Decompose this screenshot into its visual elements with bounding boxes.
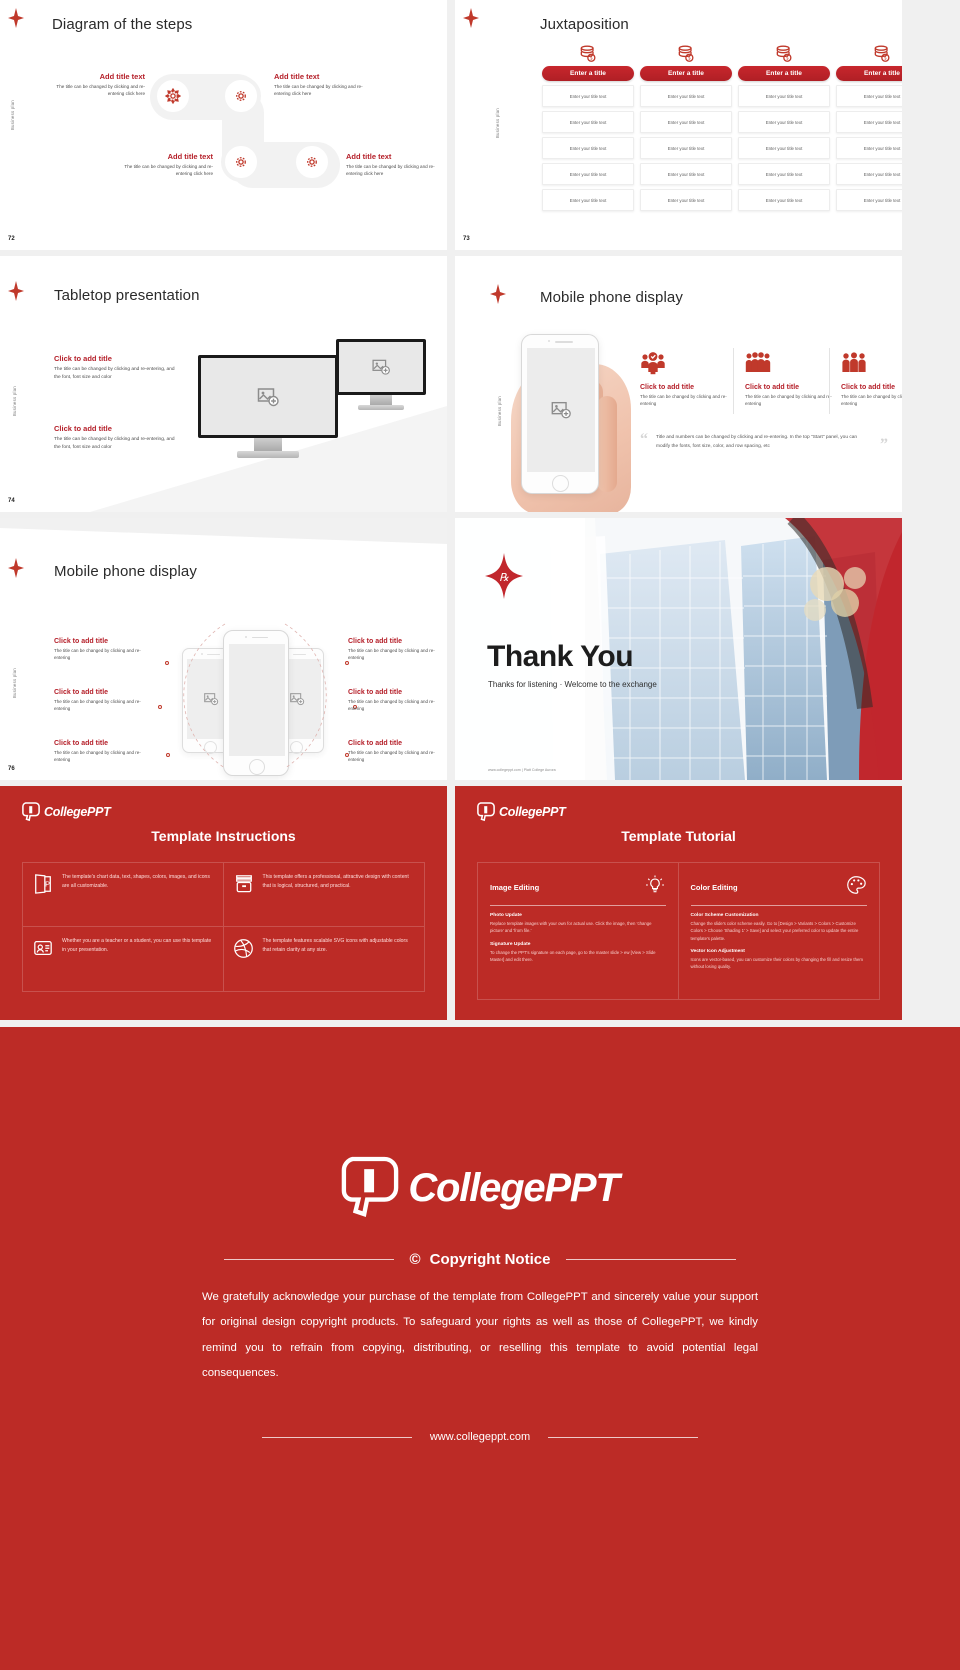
- logo-wordmark: CollegePPT: [408, 1166, 618, 1211]
- column-cell[interactable]: Enter your title text: [738, 137, 830, 159]
- slide-mobile-phone-display-a[interactable]: Business plan Mobile phone display Click…: [455, 256, 902, 512]
- people-group-icon: [745, 351, 835, 380]
- item-heading: Click to add title: [348, 689, 440, 696]
- item-body: The title can be changed by clicking and…: [54, 366, 179, 382]
- collegeppt-logo[interactable]: CollegePPT: [477, 802, 565, 822]
- tabletop-text-2: Click to add title The title can be chan…: [54, 424, 179, 452]
- rule-right: [548, 1437, 698, 1438]
- slide-title: Tabletop presentation: [54, 287, 200, 304]
- step-heading: Add title text: [118, 152, 213, 161]
- left-item-3: Click to add title The title can be chan…: [54, 740, 146, 763]
- svg-text:℞: ℞: [499, 572, 509, 584]
- coin-stack-icon: $: [836, 42, 902, 64]
- tutorial-subheading: Color Scheme Customization: [691, 913, 868, 918]
- column-cell[interactable]: Enter your title text: [738, 85, 830, 107]
- slide-title: Diagram of the steps: [52, 16, 192, 33]
- column-title-button[interactable]: Enter a title: [542, 66, 634, 81]
- presentation-contact-sheet: Business plan Diagram of the steps Add t…: [0, 0, 960, 1670]
- step-circle-2[interactable]: [221, 76, 261, 116]
- item-heading: Click to add title: [348, 638, 440, 645]
- step-text-1: Add title text The title can be changed …: [50, 72, 145, 97]
- feature-body: The title can be changed by clicking and…: [841, 393, 902, 407]
- step-text-4: Add title text The title can be changed …: [346, 152, 441, 177]
- step-body: The title can be changed by clicking and…: [50, 83, 145, 97]
- slide-side-label: Business plan: [12, 668, 17, 698]
- right-item-2: Click to add title The title can be chan…: [348, 689, 440, 712]
- step-text-2: Add title text The title can be changed …: [274, 72, 369, 97]
- item-body: The title can be changed by clicking and…: [54, 749, 146, 763]
- heading-rule: [490, 905, 666, 906]
- step-heading: Add title text: [50, 72, 145, 81]
- tutorial-heading: Image Editing: [490, 883, 539, 892]
- juxtaposition-column: $ Enter a title Enter your title text En…: [836, 42, 902, 211]
- decor-arcs: [140, 618, 370, 773]
- juxtaposition-column: $ Enter a title Enter your title text En…: [542, 42, 634, 211]
- tutorial-grid: Image Editing Photo Update Replace templ…: [477, 862, 880, 1000]
- collegeppt-logo[interactable]: CollegePPT: [22, 802, 110, 822]
- arc-node: [345, 661, 349, 665]
- template-instructions-panel: CollegePPT Template Instructions P The t…: [0, 786, 447, 1020]
- column-cell[interactable]: Enter your title text: [542, 111, 634, 133]
- slide-title: Mobile phone display: [540, 289, 683, 306]
- quote-open-icon: “: [640, 434, 648, 452]
- brand-diamond-icon: [490, 284, 504, 302]
- step-body: The title can be changed by clicking and…: [346, 163, 441, 177]
- copyright-symbol-icon: ©: [410, 1251, 421, 1268]
- thank-you-subtitle: Thanks for listening · Welcome to the ex…: [488, 680, 657, 689]
- item-heading: Click to add title: [54, 354, 179, 363]
- hand-holding-phone-image: [503, 324, 648, 512]
- monitor-secondary[interactable]: [336, 339, 426, 410]
- column-cell[interactable]: Enter your title text: [836, 85, 902, 107]
- brand-diamond-icon: [463, 8, 477, 26]
- monitor-neck: [370, 395, 392, 405]
- copyright-footer: CollegePPT © Copyright Notice We gratefu…: [0, 1027, 960, 1670]
- gear-icon: [233, 154, 249, 170]
- heading-rule: [691, 905, 868, 906]
- thank-you-title: Thank You: [487, 640, 633, 674]
- footer-url-row: www.collegeppt.com: [0, 1431, 960, 1443]
- palette-icon: [845, 874, 867, 901]
- phone-device[interactable]: [521, 334, 599, 494]
- step-body: The title can be changed by clicking and…: [274, 83, 369, 97]
- brand-diamond-icon: [8, 281, 22, 299]
- image-placeholder-icon: [550, 399, 572, 421]
- column-title-button[interactable]: Enter a title: [738, 66, 830, 81]
- monitor-neck: [254, 438, 282, 451]
- coin-stack-icon: $: [640, 42, 732, 64]
- copyright-body: We gratefully acknowledge your purchase …: [202, 1285, 758, 1386]
- tabletop-text-1: Click to add title The title can be chan…: [54, 354, 179, 382]
- step-heading: Add title text: [346, 152, 441, 161]
- coin-stack-icon: $: [542, 42, 634, 64]
- tutorial-body: Icons are vector-based, you can customiz…: [691, 956, 868, 971]
- tutorial-subheading: Photo Update: [490, 913, 666, 918]
- column-cell[interactable]: Enter your title text: [542, 85, 634, 107]
- step-circle-1[interactable]: [153, 76, 193, 116]
- logo-wordmark: CollegePPT: [44, 805, 110, 819]
- instruction-cell-1: P The template's chart data, text, shape…: [23, 863, 224, 927]
- quote-block: “ Title and numbers can be changed by cl…: [640, 434, 888, 452]
- item-heading: Click to add title: [54, 689, 146, 696]
- collegeppt-mark-icon: [22, 802, 40, 822]
- step-circle-3[interactable]: [221, 142, 261, 182]
- item-body: The title can be changed by clicking and…: [348, 647, 440, 661]
- monitor-screen: [198, 355, 338, 438]
- monitor-screen: [336, 339, 426, 395]
- instruction-cell-4: The template features scalable SVG icons…: [224, 927, 425, 991]
- copyright-heading-row: © Copyright Notice: [0, 1251, 960, 1268]
- step-circle-4[interactable]: [292, 142, 332, 182]
- slide-page-number: 73: [463, 236, 470, 242]
- rule-left: [224, 1259, 394, 1260]
- slide-tabletop-presentation[interactable]: Business plan Tabletop presentation Cl: [0, 256, 447, 512]
- slide-title: Juxtaposition: [540, 16, 629, 33]
- collegeppt-mark-icon: [477, 802, 495, 822]
- monitor-base: [237, 451, 299, 458]
- tutorial-heading: Color Editing: [691, 883, 738, 892]
- people-trio-icon: [841, 351, 902, 380]
- rule-right: [566, 1259, 736, 1260]
- slide-title: Mobile phone display: [54, 563, 197, 580]
- slide-side-label: Business plan: [12, 386, 17, 416]
- step-heading: Add title text: [274, 72, 369, 81]
- column-cell[interactable]: Enter your title text: [836, 137, 902, 159]
- tutorial-body: Replace template images with your own fo…: [490, 920, 666, 935]
- column-cell[interactable]: Enter your title text: [542, 137, 634, 159]
- feature-item-2: Click to add title The title can be chan…: [745, 351, 835, 407]
- image-placeholder[interactable]: [339, 342, 423, 392]
- right-item-3: Click to add title The title can be chan…: [348, 740, 440, 763]
- rule-left: [262, 1437, 412, 1438]
- quote-close-icon: ”: [880, 439, 888, 452]
- instruction-text: Whether you are a teacher or a student, …: [62, 937, 214, 956]
- archive-box-icon: [233, 873, 255, 895]
- panel-title: Template Instructions: [0, 828, 447, 844]
- left-item-2: Click to add title The title can be chan…: [54, 689, 146, 712]
- instruction-cell-2: This template offers a professional, att…: [224, 863, 425, 927]
- right-item-1: Click to add title The title can be chan…: [348, 638, 440, 661]
- column-title-button[interactable]: Enter a title: [640, 66, 732, 81]
- phone-screen-placeholder[interactable]: [527, 348, 595, 472]
- slide-page-number: 74: [8, 498, 15, 504]
- tutorial-column-color-editing: Color Editing Color Scheme Customization…: [679, 863, 880, 999]
- image-placeholder-icon: [256, 385, 280, 409]
- brand-diamond-logo: ℞: [485, 553, 523, 604]
- instruction-text: The template's chart data, text, shapes,…: [62, 873, 214, 892]
- svg-text:$: $: [590, 56, 593, 61]
- column-cell[interactable]: Enter your title text: [640, 137, 732, 159]
- slide-side-label: Business plan: [495, 108, 500, 138]
- item-body: The title can be changed by clicking and…: [348, 698, 440, 712]
- footer-url[interactable]: www.collegeppt.com: [430, 1431, 530, 1443]
- tutorial-heading-row: Color Editing: [691, 874, 868, 901]
- column-cell[interactable]: Enter your title text: [738, 111, 830, 133]
- juxtaposition-column: $ Enter a title Enter your title text En…: [640, 42, 732, 211]
- phone-speaker: [555, 341, 573, 343]
- item-body: The title can be changed by clicking and…: [348, 749, 440, 763]
- tutorial-subheading: Vector Icon Adjustment: [691, 949, 868, 954]
- arc-node: [158, 705, 162, 709]
- feature-divider: [829, 348, 830, 414]
- slide-page-number: 72: [8, 236, 15, 242]
- feature-heading: Click to add title: [745, 384, 835, 391]
- instructions-grid: P The template's chart data, text, shape…: [22, 862, 425, 992]
- template-tutorial-panel: CollegePPT Template Tutorial Image Editi…: [455, 786, 902, 1020]
- column-cell[interactable]: Enter your title text: [640, 111, 732, 133]
- column-cell[interactable]: Enter your title text: [836, 163, 902, 185]
- slide-juxtaposition[interactable]: Business plan Juxtaposition $ Enter a ti…: [455, 0, 902, 250]
- slide-diagram-of-the-steps[interactable]: Business plan Diagram of the steps Add t…: [0, 0, 447, 250]
- quote-text: Title and numbers can be changed by clic…: [656, 434, 872, 452]
- gear-icon: [165, 88, 181, 104]
- tutorial-body: To change the PPT's signature on each pa…: [490, 949, 666, 964]
- column-cell[interactable]: Enter your title text: [640, 189, 732, 211]
- item-body: The title can be changed by clicking and…: [54, 436, 179, 452]
- step-text-3: Add title text The title can be changed …: [118, 152, 213, 177]
- column-cell[interactable]: Enter your title text: [738, 189, 830, 211]
- left-item-1: Click to add title The title can be chan…: [54, 638, 146, 661]
- brand-diamond-icon: [8, 8, 22, 26]
- svg-text:$: $: [688, 56, 691, 61]
- decor-band: [0, 518, 447, 548]
- column-cell[interactable]: Enter your title text: [640, 85, 732, 107]
- svg-text:P: P: [45, 880, 50, 889]
- feature-heading: Click to add title: [841, 384, 902, 391]
- panel-title: Template Tutorial: [455, 828, 902, 844]
- slide-thank-you[interactable]: ℞ Thank You Thanks for listening · Welco…: [455, 518, 902, 780]
- coin-stack-icon: $: [738, 42, 830, 64]
- slide-page-number: 76: [8, 766, 15, 772]
- step-body: The title can be changed by clicking and…: [118, 163, 213, 177]
- gear-icon: [233, 88, 249, 104]
- juxtaposition-column: $ Enter a title Enter your title text En…: [738, 42, 830, 211]
- dribbble-icon: [233, 937, 255, 959]
- feature-heading: Click to add title: [640, 384, 730, 391]
- instruction-text: The template features scalable SVG icons…: [263, 937, 416, 956]
- column-cell[interactable]: Enter your title text: [542, 163, 634, 185]
- instruction-cell-3: Whether you are a teacher or a student, …: [23, 927, 224, 991]
- item-body: The title can be changed by clicking and…: [54, 698, 146, 712]
- id-card-icon: [32, 937, 54, 959]
- column-cell[interactable]: Enter your title text: [738, 163, 830, 185]
- copyright-heading: © Copyright Notice: [410, 1251, 551, 1268]
- item-heading: Click to add title: [54, 740, 146, 747]
- gear-icon: [304, 154, 320, 170]
- tutorial-body: Change the slide's color scheme easily. …: [691, 920, 868, 942]
- svg-text:$: $: [884, 56, 887, 61]
- ppt-file-icon: P: [32, 873, 54, 895]
- column-cell[interactable]: Enter your title text: [836, 111, 902, 133]
- arc-node: [166, 753, 170, 757]
- feature-item-1: Click to add title The title can be chan…: [640, 351, 730, 407]
- column-cell[interactable]: Enter your title text: [836, 189, 902, 211]
- slide-side-label: Business plan: [10, 100, 15, 130]
- item-heading: Click to add title: [54, 424, 179, 433]
- svg-text:$: $: [786, 56, 789, 61]
- thank-you-footer: www.collegeppt.com | Platt College Auror…: [488, 768, 556, 772]
- instruction-text: This template offers a professional, att…: [263, 873, 416, 892]
- feature-item-3: Click to add title The title can be chan…: [841, 351, 902, 407]
- feature-body: The title can be changed by clicking and…: [745, 393, 835, 407]
- copyright-label: Copyright Notice: [430, 1251, 551, 1268]
- slide-side-label: Business plan: [497, 396, 502, 426]
- collegeppt-mark-icon: [341, 1155, 399, 1221]
- monitor-base: [358, 405, 404, 410]
- column-cell[interactable]: Enter your title text: [640, 163, 732, 185]
- brand-diamond-icon: [8, 558, 22, 576]
- tutorial-column-image-editing: Image Editing Photo Update Replace templ…: [478, 863, 679, 999]
- column-title-button[interactable]: Enter a title: [836, 66, 902, 81]
- item-heading: Click to add title: [54, 638, 146, 645]
- arc-node: [165, 661, 169, 665]
- image-placeholder-icon: [371, 357, 391, 377]
- feature-body: The title can be changed by clicking and…: [640, 393, 730, 407]
- monitor-primary[interactable]: [198, 355, 338, 458]
- item-heading: Click to add title: [348, 740, 440, 747]
- item-body: The title can be changed by clicking and…: [54, 647, 146, 661]
- collegeppt-logo-large[interactable]: CollegePPT: [0, 1155, 960, 1221]
- phone-home-button[interactable]: [552, 475, 569, 492]
- lightbulb-icon: [644, 874, 666, 901]
- slide-mobile-phone-display-b[interactable]: Business plan Mobile phone display: [0, 518, 447, 780]
- phone-camera-icon: [548, 340, 550, 342]
- column-cell[interactable]: Enter your title text: [542, 189, 634, 211]
- tutorial-heading-row: Image Editing: [490, 874, 666, 901]
- tutorial-subheading: Signature Update: [490, 942, 666, 947]
- image-placeholder[interactable]: [201, 358, 335, 435]
- logo-wordmark: CollegePPT: [499, 805, 565, 819]
- feature-divider: [733, 348, 734, 414]
- people-check-icon: [640, 351, 730, 380]
